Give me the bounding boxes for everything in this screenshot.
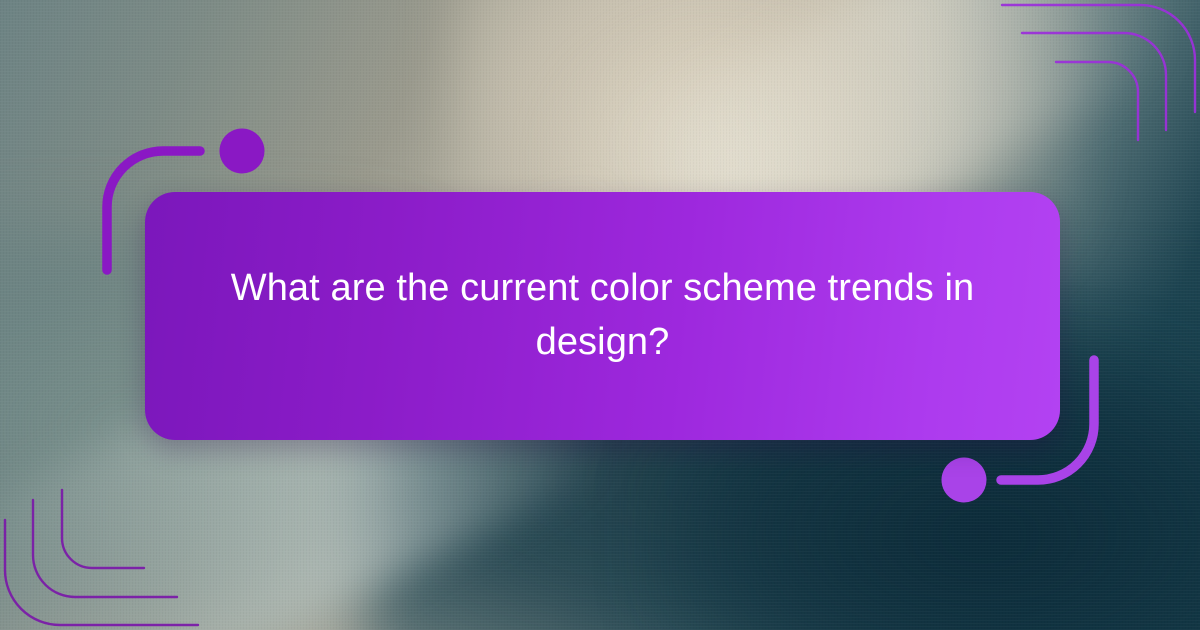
top-right-corner-lines-icon: [1002, 5, 1195, 140]
question-card[interactable]: What are the current color scheme trends…: [145, 192, 1060, 440]
question-card-canvas: What are the current color scheme trends…: [0, 0, 1200, 630]
top-left-dot-icon: [220, 129, 265, 174]
bottom-left-corner-lines-icon: [5, 490, 198, 625]
question-text: What are the current color scheme trends…: [223, 262, 983, 370]
bottom-right-dot-icon: [942, 458, 987, 503]
